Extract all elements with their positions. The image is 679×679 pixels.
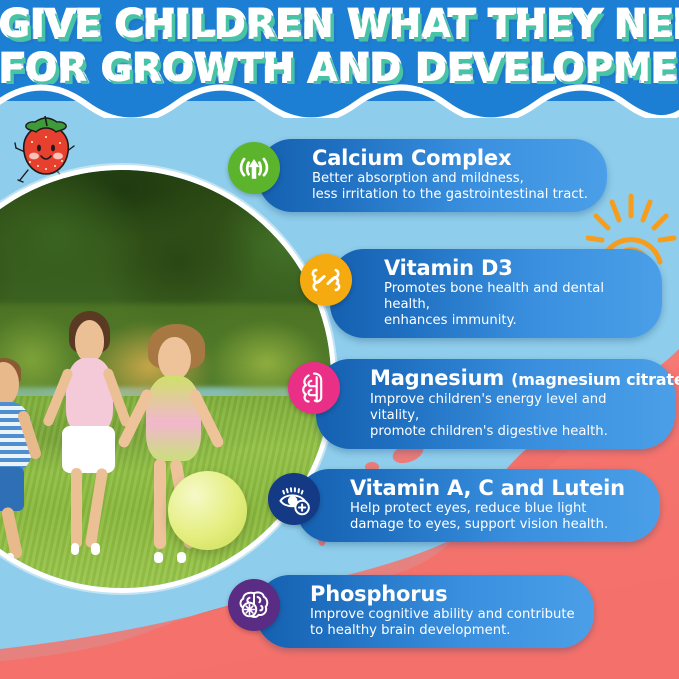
feature-card-vitamin-d3[interactable]: Vitamin D3 Promotes bone health and dent…: [330, 249, 662, 338]
feature-title: Phosphorus: [310, 582, 578, 607]
feature-title: Magnesium (magnesium citrate): [370, 366, 659, 392]
intestine-icon: [288, 362, 340, 414]
feature-card-phosphorus[interactable]: Phosphorus Improve cognitive ability and…: [256, 575, 594, 648]
wave-divider: [0, 84, 679, 118]
feature-card-magnesium[interactable]: Magnesium (magnesium citrate) Improve ch…: [316, 359, 675, 449]
bone-icon: [300, 254, 352, 306]
children-playing-photo: [0, 165, 336, 593]
eye-plus-icon: [268, 473, 320, 525]
calcium-growth-icon: [228, 142, 280, 194]
brain-icon: [228, 579, 280, 631]
feature-description: Improve children's energy level and vita…: [370, 392, 659, 440]
title-line-1: GIVE CHILDREN WHAT THEY NEED: [0, 3, 679, 47]
feature-card-vitamin-a-c-lutein[interactable]: Vitamin A, C and Lutein Help protect eye…: [296, 469, 660, 542]
feature-description: Improve cognitive ability and contribute…: [310, 607, 578, 639]
feature-card-calcium[interactable]: Calcium Complex Better absorption and mi…: [258, 139, 607, 212]
feature-title-suffix: (magnesium citrate): [511, 370, 679, 389]
feature-description: Promotes bone health and dental health, …: [384, 281, 646, 329]
feature-description: Better absorption and mildness, less irr…: [312, 171, 591, 203]
product-infographic: GIVE CHILDREN WHAT THEY NEED FOR GROWTH …: [0, 0, 679, 679]
feature-title: Vitamin A, C and Lutein: [350, 476, 644, 501]
feature-title: Vitamin D3: [384, 256, 646, 281]
feature-description: Help protect eyes, reduce blue light dam…: [350, 501, 644, 533]
feature-title: Calcium Complex: [312, 146, 591, 171]
page-title: GIVE CHILDREN WHAT THEY NEED FOR GROWTH …: [0, 3, 679, 91]
